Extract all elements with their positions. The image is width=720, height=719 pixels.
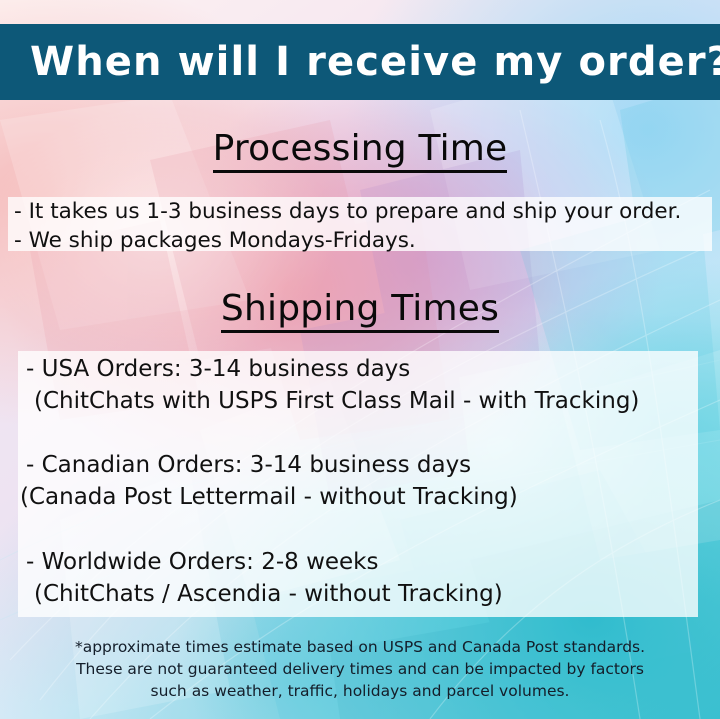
shipping-entry-usa-title: - USA Orders: 3-14 business days — [26, 358, 639, 381]
section-heading-shipping: Shipping Times — [0, 288, 720, 329]
shipping-entry-worldwide: - Worldwide Orders: 2-8 weeks (ChitChats… — [26, 551, 503, 606]
section-heading-processing: Processing Time — [0, 128, 720, 169]
shipping-entry-canada-title: - Canadian Orders: 3-14 business days — [20, 454, 518, 477]
shipping-entry-worldwide-detail: (ChitChats / Ascendia - without Tracking… — [26, 583, 503, 606]
header-banner: When will I receive my order? — [0, 24, 720, 100]
processing-line-1: - It takes us 1-3 business days to prepa… — [14, 201, 681, 223]
footer-disclaimer-line-3: such as weather, traffic, holidays and p… — [0, 680, 720, 702]
section-heading-processing-text: Processing Time — [213, 128, 508, 173]
faq-poster: When will I receive my order? Processing… — [0, 0, 720, 719]
shipping-entry-usa: - USA Orders: 3-14 business days (ChitCh… — [26, 358, 639, 413]
footer-disclaimer-line-1: *approximate times estimate based on USP… — [0, 636, 720, 658]
processing-line-2: - We ship packages Mondays-Fridays. — [14, 230, 416, 252]
shipping-entry-worldwide-title: - Worldwide Orders: 2-8 weeks — [26, 551, 503, 574]
shipping-entry-canada: - Canadian Orders: 3-14 business days (C… — [20, 454, 518, 509]
section-heading-shipping-text: Shipping Times — [221, 288, 499, 333]
page-title: When will I receive my order? — [30, 42, 720, 82]
shipping-entry-usa-detail: (ChitChats with USPS First Class Mail - … — [26, 390, 639, 413]
footer-disclaimer: *approximate times estimate based on USP… — [0, 636, 720, 702]
footer-disclaimer-line-2: These are not guaranteed delivery times … — [0, 658, 720, 680]
shipping-entry-canada-detail: (Canada Post Lettermail - without Tracki… — [20, 486, 518, 509]
